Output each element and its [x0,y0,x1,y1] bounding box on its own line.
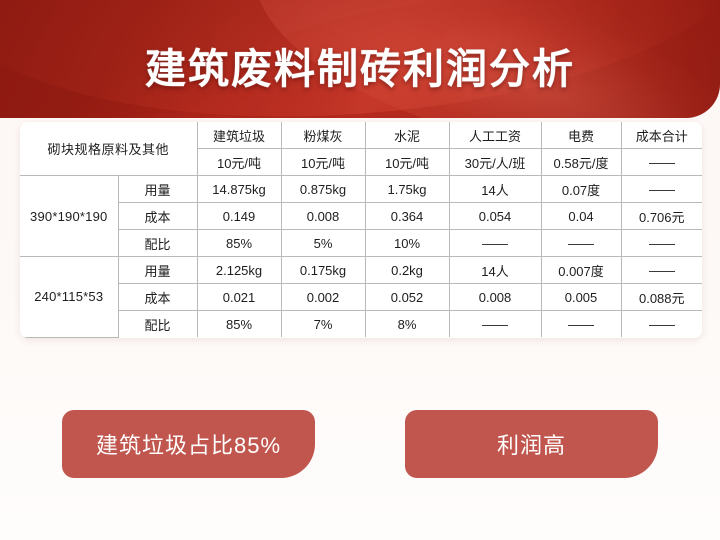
cell-value: 0.005 [541,284,621,311]
cell-value: 1.75kg [365,176,449,203]
column-unit-price-1: 10元/吨 [281,149,365,176]
page-root: 建筑废料制砖利润分析 砌块规格原料及其他 建筑垃圾 粉煤灰 水泥 [0,0,720,540]
row-label: 配比 [118,311,197,338]
row-label: 用量 [118,176,197,203]
cell-value: 0.2kg [365,257,449,284]
cell-value: 0.04 [541,203,621,230]
cell-value: 0.149 [197,203,281,230]
em-dash-mark [649,190,675,191]
row-group-spec-1: 240*115*53 [20,257,118,338]
table-header-row-names: 砌块规格原料及其他 建筑垃圾 粉煤灰 水泥 人工工资 电费 成本合计 [20,122,702,149]
cell-value: 0.175kg [281,257,365,284]
cell-value: 14人 [449,176,541,203]
em-dash-mark [649,325,675,326]
highlight-pill-label: 建筑垃圾占比85% [96,428,281,460]
cell-value: 0.364 [365,203,449,230]
table-row: 成本 0.021 0.002 0.052 0.008 0.005 0.088元 [20,284,702,311]
table-row: 配比 85% 7% 8% [20,311,702,338]
cell-value: 14.875kg [197,176,281,203]
cell-value [621,176,702,203]
cell-value: 7% [281,311,365,338]
em-dash-mark [568,244,594,245]
page-title: 建筑废料制砖利润分析 [0,0,720,118]
cell-value [541,311,621,338]
table-row: 240*115*53 用量 2.125kg 0.175kg 0.2kg 14人 … [20,257,702,284]
cost-table: 砌块规格原料及其他 建筑垃圾 粉煤灰 水泥 人工工资 电费 成本合计 10元/吨… [20,122,702,338]
table-row: 配比 85% 5% 10% [20,230,702,257]
row-label: 配比 [118,230,197,257]
table-row: 390*190*190 用量 14.875kg 0.875kg 1.75kg 1… [20,176,702,203]
column-header-3: 人工工资 [449,122,541,149]
cell-value: 85% [197,311,281,338]
cell-value [621,257,702,284]
column-header-5: 成本合计 [621,122,702,149]
row-label: 用量 [118,257,197,284]
column-header-1: 粉煤灰 [281,122,365,149]
column-unit-price-3: 30元/人/班 [449,149,541,176]
em-dash-mark [649,244,675,245]
cell-value: 8% [365,311,449,338]
column-unit-price-4: 0.58元/度 [541,149,621,176]
cell-value [621,230,702,257]
cell-value: 0.054 [449,203,541,230]
cell-value: 0.088元 [621,284,702,311]
cell-value [621,311,702,338]
table-corner-label: 砌块规格原料及其他 [20,122,197,176]
column-unit-price-2: 10元/吨 [365,149,449,176]
column-header-4: 电费 [541,122,621,149]
header-banner: 建筑废料制砖利润分析 [0,0,720,118]
cell-value: 0.007度 [541,257,621,284]
cell-value: 0.052 [365,284,449,311]
em-dash-mark [568,325,594,326]
cell-value: 10% [365,230,449,257]
em-dash-mark [649,163,675,164]
cell-value: 0.875kg [281,176,365,203]
cell-value [541,230,621,257]
cell-value: 5% [281,230,365,257]
em-dash-mark [482,325,508,326]
highlight-pill-high-profit[interactable]: 利润高 [405,410,658,478]
row-label: 成本 [118,203,197,230]
cell-value [449,230,541,257]
cost-table-body: 砌块规格原料及其他 建筑垃圾 粉煤灰 水泥 人工工资 电费 成本合计 10元/吨… [20,122,702,337]
cell-value: 0.021 [197,284,281,311]
em-dash-mark [482,244,508,245]
column-unit-price-5 [621,149,702,176]
highlight-pill-waste-ratio[interactable]: 建筑垃圾占比85% [62,410,315,478]
column-header-0: 建筑垃圾 [197,122,281,149]
row-label: 成本 [118,284,197,311]
cost-table-card: 砌块规格原料及其他 建筑垃圾 粉煤灰 水泥 人工工资 电费 成本合计 10元/吨… [20,122,702,338]
cell-value: 2.125kg [197,257,281,284]
cell-value: 0.008 [281,203,365,230]
em-dash-mark [649,271,675,272]
column-header-2: 水泥 [365,122,449,149]
cell-value: 0.706元 [621,203,702,230]
column-unit-price-0: 10元/吨 [197,149,281,176]
highlight-pill-label: 利润高 [497,428,566,460]
table-row: 成本 0.149 0.008 0.364 0.054 0.04 0.706元 [20,203,702,230]
cell-value: 14人 [449,257,541,284]
cell-value: 0.07度 [541,176,621,203]
row-group-spec-0: 390*190*190 [20,176,118,257]
cell-value: 0.008 [449,284,541,311]
cell-value: 85% [197,230,281,257]
cell-value [449,311,541,338]
cell-value: 0.002 [281,284,365,311]
